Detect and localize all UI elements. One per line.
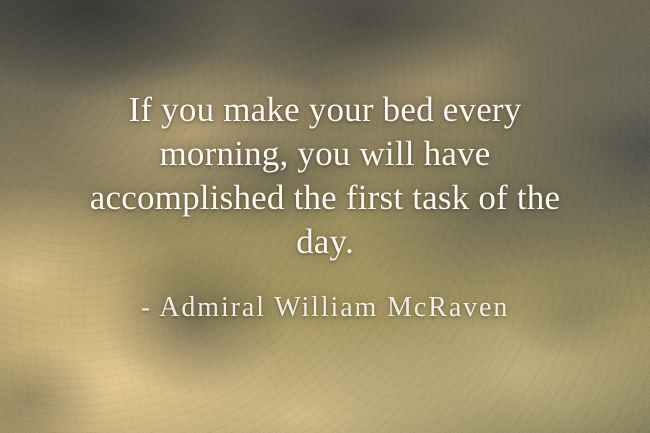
- quote-text: If you make your bed every morning, you …: [0, 88, 650, 264]
- quote-attribution: - Admiral William McRaven: [123, 290, 528, 326]
- quote-line-1: If you make your bed every: [18, 88, 632, 132]
- quote-line-4: day.: [18, 220, 632, 264]
- text-block: If you make your bed every morning, you …: [0, 0, 650, 433]
- quote-line-3: accomplished the first task of the: [18, 176, 632, 220]
- quote-line-2: morning, you will have: [18, 132, 632, 176]
- quote-poster: If you make your bed every morning, you …: [0, 0, 650, 433]
